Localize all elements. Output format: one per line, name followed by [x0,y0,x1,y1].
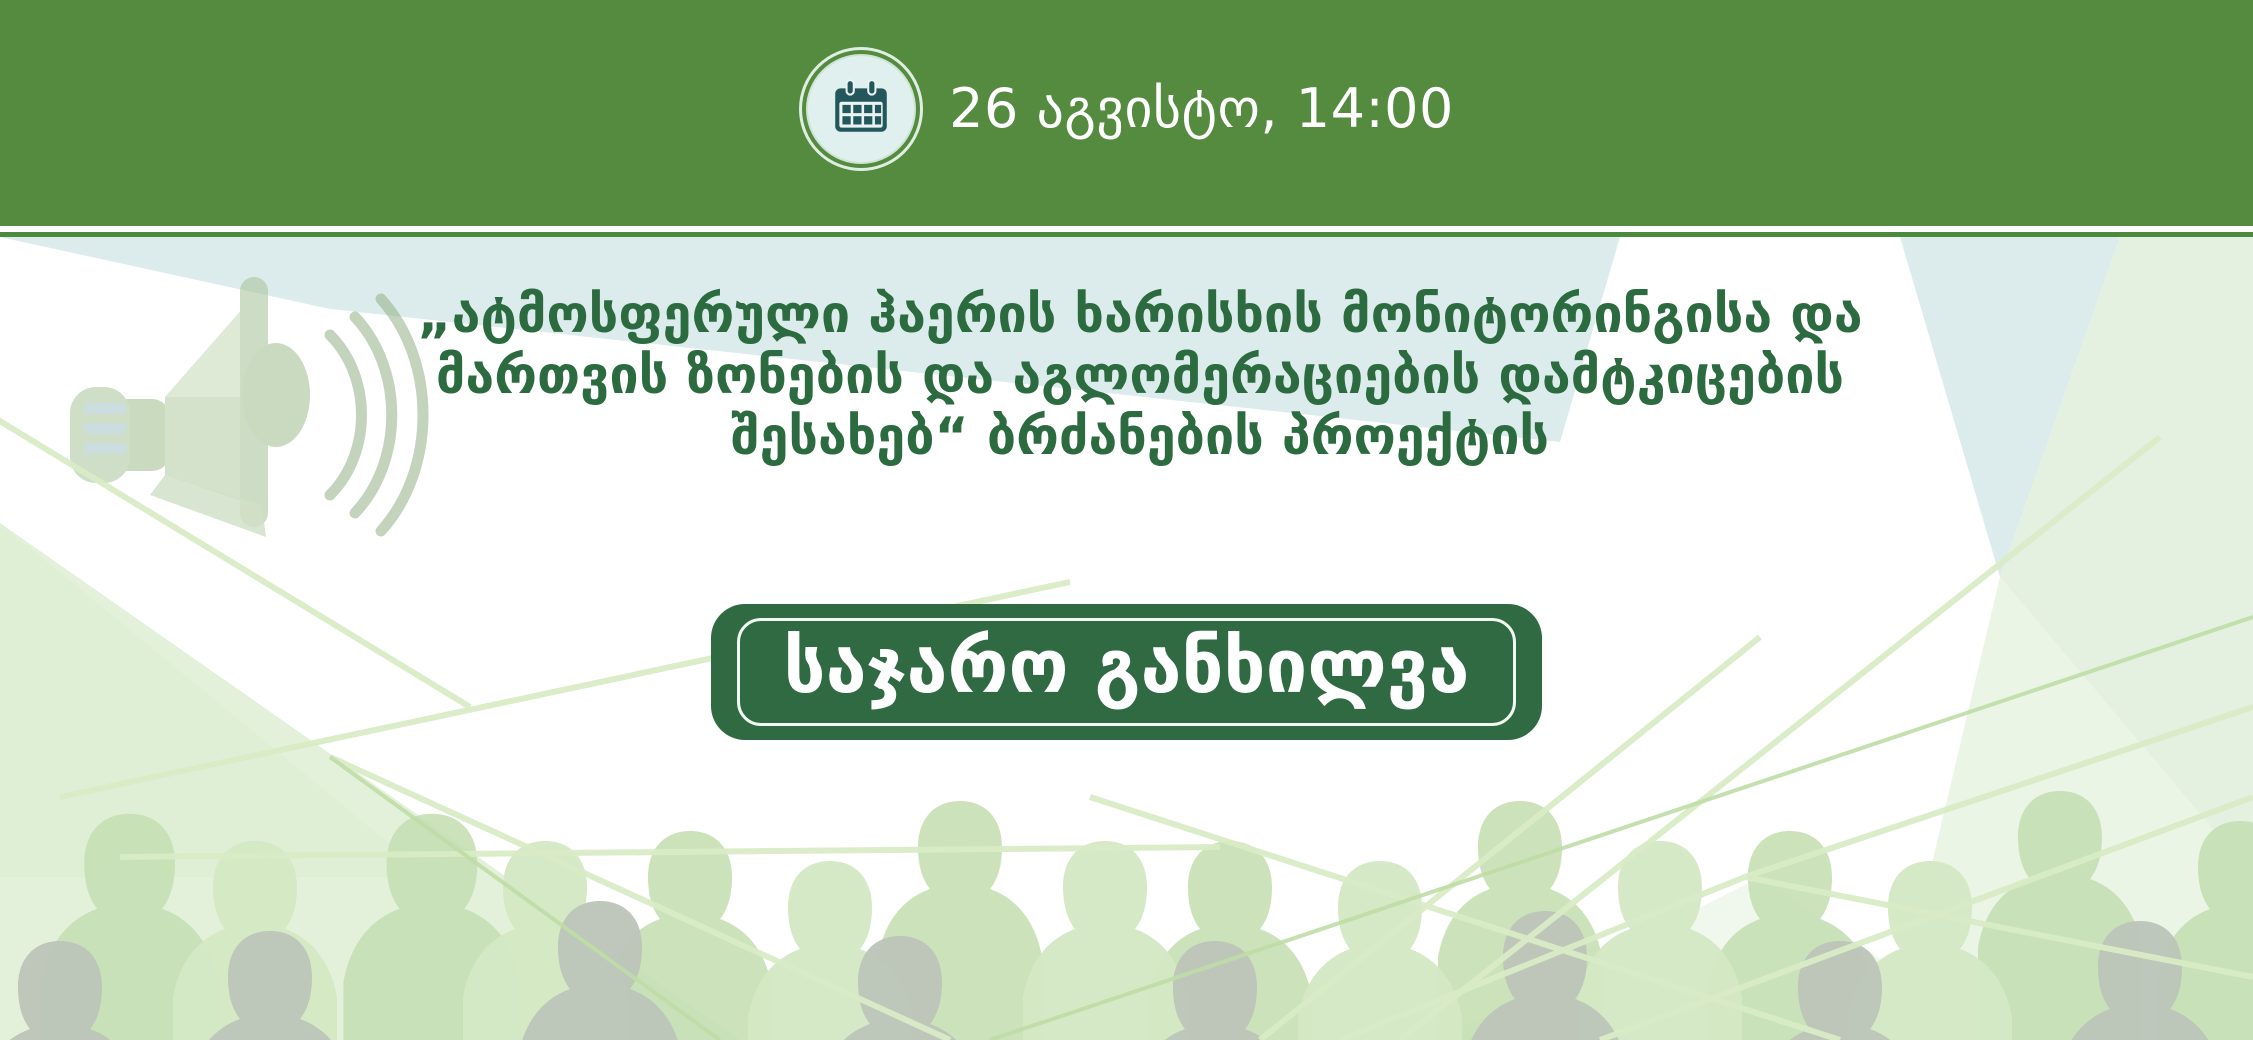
title-line-1: „ატმოსფერული ჰაერის ხარისხის მონიტორინგი… [310,285,1970,346]
public-discussion-badge[interactable]: საჯარო განხილვა [711,604,1543,740]
header-content: 26 აგვისტო, 14:00 [799,47,1454,171]
header-separator-line [0,232,2253,237]
announcement-title: „ატმოსფერული ჰაერის ხარისხის მონიტორინგი… [310,285,1970,467]
cta-badge-wrapper: საჯარო განხილვა [0,604,2253,740]
title-line-3: შესახებ“ ბრძანების პროექტის [310,407,1970,468]
public-discussion-label: საჯარო განხილვა [784,629,1470,707]
event-date-time: 26 აგვისტო, 14:00 [949,82,1454,136]
public-discussion-badge-border: საჯარო განხილვა [737,618,1517,726]
calendar-icon [799,47,923,171]
header-date-band: 26 აგვისტო, 14:00 [0,0,2253,226]
event-announcement-banner: 26 აგვისტო, 14:00 [0,0,2253,1040]
calendar-icon-glyph [799,47,923,171]
title-line-2: მართვის ზონების და აგლომერაციების დამტკი… [310,346,1970,407]
